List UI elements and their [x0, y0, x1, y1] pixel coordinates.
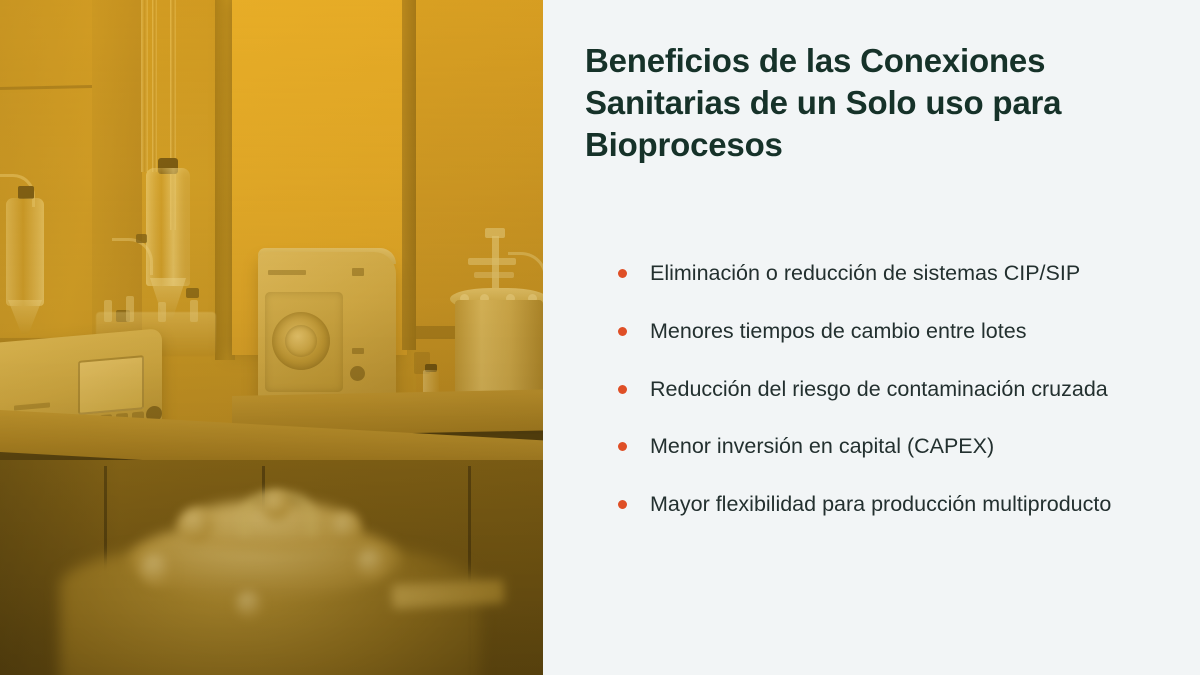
list-item-label: Reducción del riesgo de contaminación cr…	[650, 377, 1108, 401]
valve-knob-a	[136, 234, 147, 243]
slide-title: Beneficios de las Conexiones Sanitarias …	[585, 40, 1125, 167]
bullet-dot-icon	[618, 500, 627, 509]
bullet-dot-icon	[618, 269, 627, 278]
instrument-indicator	[352, 268, 364, 276]
vessel-arm-upper	[468, 258, 516, 265]
foreground-port-2	[262, 490, 290, 520]
list-item-label: Mayor flexibilidad para producción multi…	[650, 492, 1111, 516]
lab-photo-panel	[0, 0, 543, 675]
foreground-port-4	[140, 552, 174, 586]
control-unit-screen	[78, 355, 144, 415]
vessel-arm-lower	[474, 272, 514, 278]
photo-illustration	[0, 0, 543, 675]
instrument-knob	[350, 366, 365, 381]
ceiling-pipe-a	[141, 0, 148, 172]
bullet-dot-icon	[618, 385, 627, 394]
list-item-label: Menores tiempos de cambio entre lotes	[650, 319, 1026, 343]
instrument-button	[352, 348, 364, 354]
list-item: Eliminación o reducción de sistemas CIP/…	[617, 258, 1145, 290]
foreground-port-6	[236, 590, 262, 618]
list-item-label: Menor inversión en capital (CAPEX)	[650, 434, 994, 458]
instrument-brand-mark	[268, 270, 306, 275]
benefits-list: Eliminación o reducción de sistemas CIP/…	[617, 258, 1145, 521]
valve-knob-c	[186, 288, 199, 298]
instrument-round-port	[272, 312, 330, 370]
list-item-label: Eliminación o reducción de sistemas CIP/…	[650, 261, 1080, 285]
list-item: Menor inversión en capital (CAPEX)	[617, 431, 1145, 463]
bullet-dot-icon	[618, 442, 627, 451]
list-item: Menores tiempos de cambio entre lotes	[617, 316, 1145, 348]
foreground-port-1	[180, 508, 212, 542]
media-bottle	[6, 198, 44, 306]
list-item: Reducción del riesgo de contaminación cr…	[617, 374, 1145, 406]
list-item: Mayor flexibilidad para producción multi…	[617, 489, 1145, 521]
bullet-dot-icon	[618, 327, 627, 336]
foreground-port-5	[356, 548, 386, 578]
foreground-port-3	[330, 512, 360, 544]
content-panel: Beneficios de las Conexiones Sanitarias …	[543, 0, 1200, 675]
door-jamb-right	[402, 0, 416, 350]
slide: Beneficios de las Conexiones Sanitarias …	[0, 0, 1200, 675]
ceiling-pipe-b	[152, 0, 157, 172]
